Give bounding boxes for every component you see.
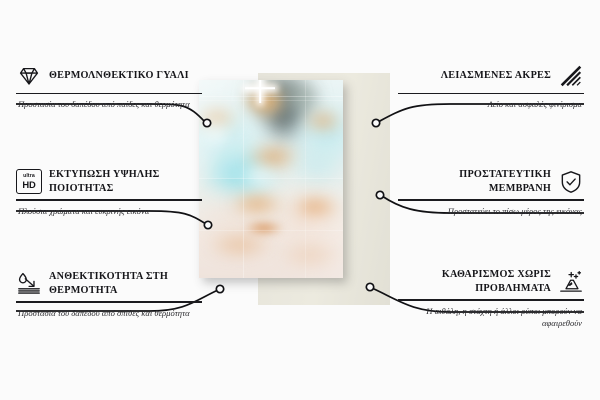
feature-easy-cleaning[interactable]: ΚΑΘΑΡΙΣΜΟΣ ΧΩΡΙΣ ΠΡΟΒΛΗΜΑΤΑ Η αιθάλη, η … [398, 268, 584, 329]
feature-divider [398, 199, 584, 200]
feature-header: ΑΝΘΕΚΤΙΚΟΤΗΤΑ ΣΤΗ ΘΕΡΜΟΤΗΤΑ [16, 270, 202, 297]
feature-divider [398, 93, 584, 94]
feature-protective-membrane[interactable]: ΠΡΟΣΤΑΤΕΥΤΙΚΗ ΜΕΜΒΡΑΝΗ Προστατεύει το πί… [398, 168, 584, 217]
feature-title: ΠΡΟΣΤΑΤΕΥΤΙΚΗ ΜΕΜΒΡΑΝΗ [398, 168, 551, 195]
feature-header: ΘΕΡΜΟΛΝΘΕΚΤΙΚΟ ΓΥΑΛΙ [16, 63, 202, 89]
feature-description: Προστασία του δαπέδου από παίδες και θερ… [16, 98, 202, 110]
feature-divider [16, 199, 202, 200]
feature-description: Η αιθάλη, η στάχτη ή άλλοι ρύποι μπορούν… [398, 305, 584, 329]
feature-description: Λείο και ασφαλές φινίρισμα [398, 98, 584, 110]
feature-heat-resistance[interactable]: ΑΝΘΕΚΤΙΚΟΤΗΤΑ ΣΤΗ ΘΕΡΜΟΤΗΤΑ Προστασία το… [16, 270, 202, 319]
feature-description: Προστατεύει το πίσω μέρος της εικόνας [398, 205, 584, 217]
feature-header: ΠΡΟΣΤΑΤΕΥΤΙΚΗ ΜΕΜΒΡΑΝΗ [398, 168, 584, 195]
feature-title: ΚΑΘΑΡΙΣΜΟΣ ΧΩΡΙΣ ΠΡΟΒΛΗΜΑΤΑ [398, 268, 551, 295]
ultra-hd-icon: ultra HD [16, 169, 42, 194]
feature-title: ΕΚΤΥΠΩΣΗ ΥΨΗΛΗΣ ΠΟΙΟΤΗΤΑΣ [49, 168, 202, 195]
feature-description: Προστασία του δαπέδου από σπίθες και θερ… [16, 307, 202, 319]
feature-smoothed-edges[interactable]: ΛΕΙΑΣΜΕΝΕΣ ΑΚΡΕΣ Λείο και ασφαλές φινίρι… [398, 63, 584, 111]
feature-divider [16, 301, 202, 302]
infographic-stage: ΘΕΡΜΟΛΝΘΕΚΤΙΚΟ ΓΥΑΛΙ Προστασία του δαπέδ… [0, 0, 600, 400]
feature-thermal-resistant-glass[interactable]: ΘΕΡΜΟΛΝΘΕΚΤΙΚΟ ΓΥΑΛΙ Προστασία του δαπέδ… [16, 63, 202, 111]
diagonal-stripes-icon [558, 63, 584, 89]
feature-title: ΘΕΡΜΟΛΝΘΕΚΤΙΚΟ ΓΥΑΛΙ [49, 69, 189, 83]
ultra-hd-bottom-label: HD [22, 180, 35, 189]
feature-high-quality-print[interactable]: ultra HD ΕΚΤΥΠΩΣΗ ΥΨΗΛΗΣ ΠΟΙΟΤΗΤΑΣ Πλούσ… [16, 168, 202, 217]
feature-divider [398, 299, 584, 300]
feature-header: ultra HD ΕΚΤΥΠΩΣΗ ΥΨΗΛΗΣ ΠΟΙΟΤΗΤΑΣ [16, 168, 202, 195]
feature-divider [16, 93, 202, 94]
product-glass-panel [199, 80, 343, 278]
shield-check-icon [558, 169, 584, 195]
connector-dot-3 [216, 285, 223, 292]
feature-header: ΛΕΙΑΣΜΕΝΕΣ ΑΚΡΕΣ [398, 63, 584, 89]
flame-deflect-icon [16, 271, 42, 297]
feature-title: ΛΕΙΑΣΜΕΝΕΣ ΑΚΡΕΣ [441, 69, 551, 83]
sparkle-clean-icon [558, 269, 584, 295]
diamond-icon [16, 63, 42, 89]
glass-glare [199, 80, 343, 278]
feature-header: ΚΑΘΑΡΙΣΜΟΣ ΧΩΡΙΣ ΠΡΟΒΛΗΜΑΤΑ [398, 268, 584, 295]
feature-description: Πλούσια χρώματα και ευκρινής εικόνα [16, 205, 202, 217]
feature-title: ΑΝΘΕΚΤΙΚΟΤΗΤΑ ΣΤΗ ΘΕΡΜΟΤΗΤΑ [49, 270, 202, 297]
